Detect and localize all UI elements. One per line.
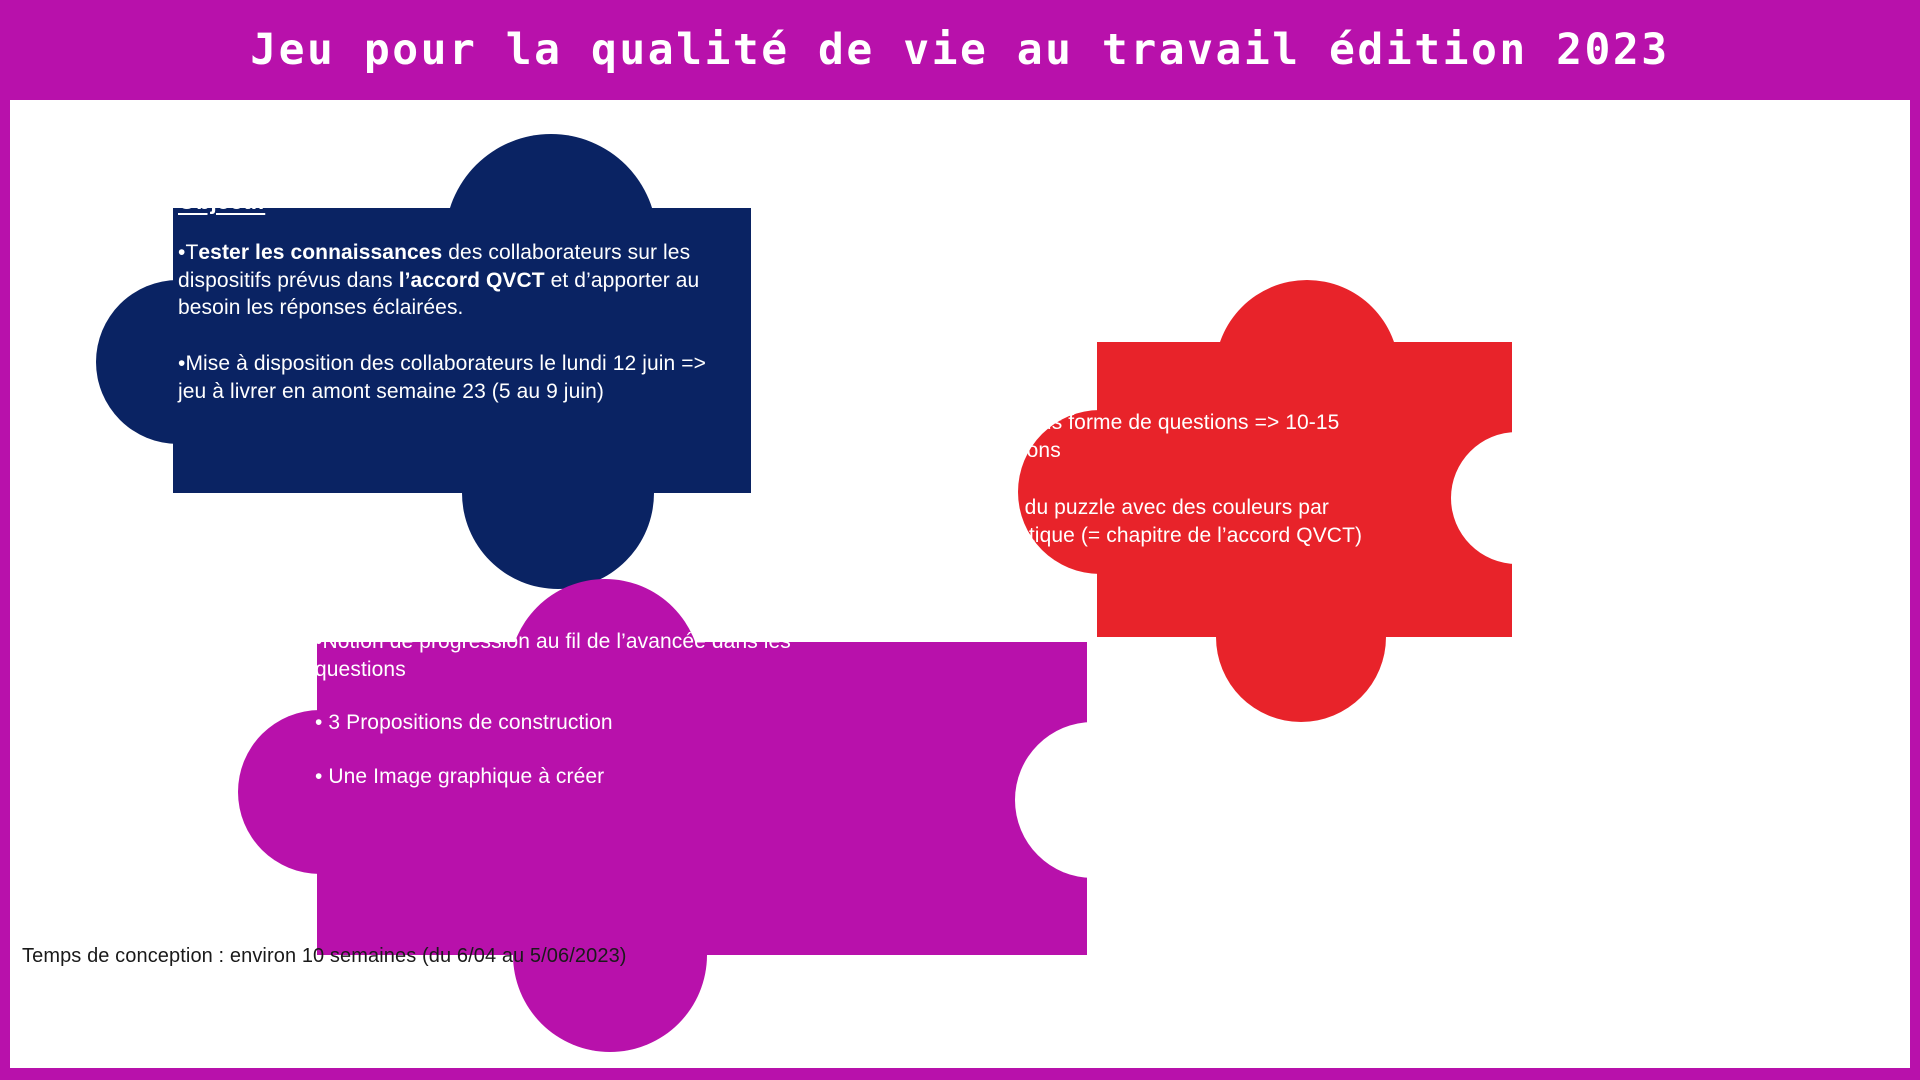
format-title: Format — [970, 352, 1420, 379]
footer-note: Temps de conception : environ 10 semaine… — [22, 945, 627, 968]
objectif-title: Objectif — [178, 188, 706, 215]
objectif-bullet-1: •Tester les connaissances des collaborat… — [178, 239, 706, 322]
format-bullet-2-text: Idée du puzzle avec des couleurs par thé… — [970, 496, 1362, 547]
bullet-glyph: • — [315, 711, 328, 734]
page-title: Jeu pour la qualité de vie au travail éd… — [0, 0, 1920, 100]
creation-graphique-bullet-3-text: Une Image graphique à créer — [328, 765, 604, 788]
creation-graphique-text-block: Création graphique •Notion de progressio… — [315, 575, 835, 791]
objectif-bullet-1-bold2: l’accord QVCT — [399, 269, 545, 292]
objectif-bullet-2: •Mise à disposition des collaborateurs l… — [178, 350, 706, 405]
slide-canvas: Objectif •Tester les connaissances des c… — [10, 100, 1910, 1068]
creation-graphique-bullet-1-text: Notion de progression au fil de l’avancé… — [315, 630, 791, 681]
format-bullet-1-text: Jeu sous forme de questions => 10-15 que… — [970, 411, 1339, 462]
header-band: Jeu pour la qualité de vie au travail éd… — [0, 0, 1920, 100]
creation-graphique-bullet-3: • Une Image graphique à créer — [315, 763, 835, 791]
format-text-block: Format •Jeu sous forme de questions => 1… — [970, 352, 1420, 550]
objectif-bullet-1-lead-bold: ester les connaissances — [198, 241, 442, 264]
bullet-glyph: • — [315, 765, 328, 788]
objectif-bullet-2-text: Mise à disposition des collaborateurs le… — [178, 352, 706, 403]
format-bullet-2: •Idée du puzzle avec des couleurs par th… — [970, 494, 1420, 549]
slide-root: Jeu pour la qualité de vie au travail éd… — [0, 0, 1920, 1080]
creation-graphique-bullet-2: • 3 Propositions de construction — [315, 709, 835, 737]
creation-graphique-title: Création graphique — [315, 575, 835, 602]
format-bullet-1: •Jeu sous forme de questions => 10-15 qu… — [970, 409, 1420, 464]
creation-graphique-bullet-1: •Notion de progression au fil de l’avanc… — [315, 628, 835, 683]
objectif-text-block: Objectif •Tester les connaissances des c… — [178, 188, 706, 406]
creation-graphique-bullet-2-text: 3 Propositions de construction — [328, 711, 612, 734]
objectif-bullet-1-lead-plain: T — [185, 241, 198, 264]
